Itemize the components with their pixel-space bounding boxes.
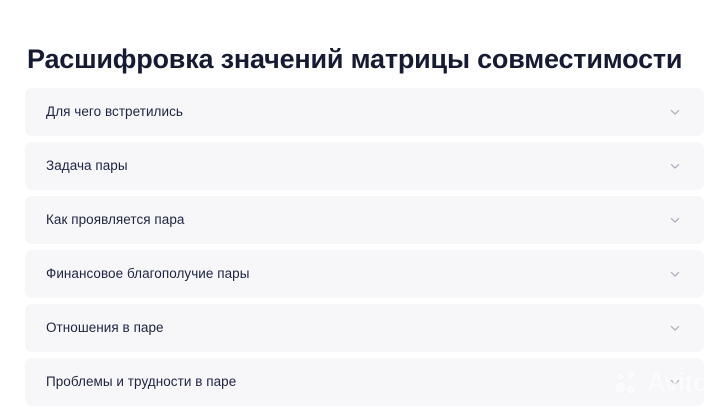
accordion-item-label: Финансовое благополучие пары	[46, 265, 668, 283]
chevron-down-icon[interactable]	[668, 159, 682, 173]
accordion-item-5[interactable]: Проблемы и трудности в паре	[25, 358, 704, 406]
chevron-down-icon[interactable]	[668, 267, 682, 281]
accordion-item-label: Для чего встретились	[46, 103, 668, 121]
accordion-item-label: Как проявляется пара	[46, 211, 668, 229]
accordion-item-label: Задача пары	[46, 157, 668, 175]
accordion-list: Для чего встретились Задача пары Как про…	[25, 88, 704, 406]
accordion-item-label: Отношения в паре	[46, 319, 668, 337]
accordion-item-0[interactable]: Для чего встретились	[25, 88, 704, 136]
accordion-item-4[interactable]: Отношения в паре	[25, 304, 704, 352]
page-title: Расшифровка значений матрицы совместимос…	[27, 42, 720, 76]
accordion-item-label: Проблемы и трудности в паре	[46, 373, 668, 391]
chevron-down-icon[interactable]	[668, 213, 682, 227]
chevron-down-icon[interactable]	[668, 375, 682, 389]
chevron-down-icon[interactable]	[668, 321, 682, 335]
accordion-item-3[interactable]: Финансовое благополучие пары	[25, 250, 704, 298]
accordion-item-1[interactable]: Задача пары	[25, 142, 704, 190]
chevron-down-icon[interactable]	[668, 105, 682, 119]
accordion-item-2[interactable]: Как проявляется пара	[25, 196, 704, 244]
page-root: Расшифровка значений матрицы совместимос…	[0, 0, 720, 408]
